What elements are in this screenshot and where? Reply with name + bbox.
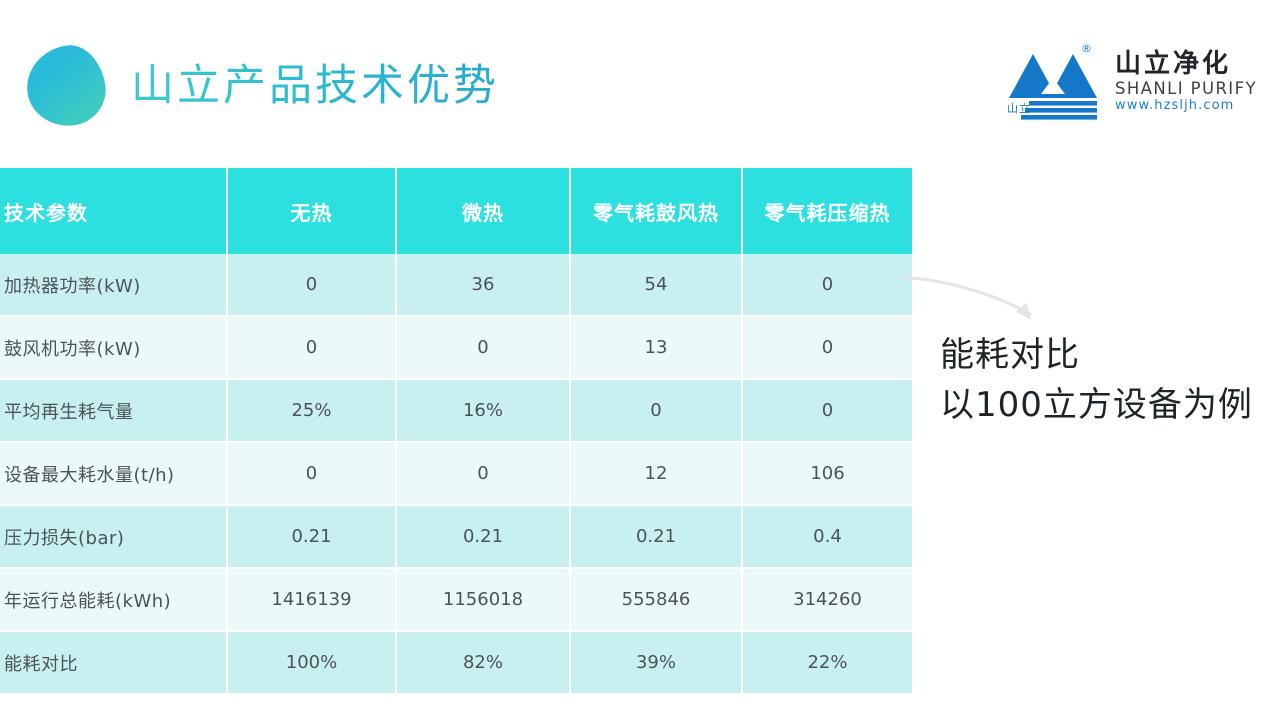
- row-label: 能耗对比: [0, 631, 227, 694]
- cell-value: 25%: [227, 379, 396, 442]
- annotation-line-1: 能耗对比: [940, 330, 1253, 380]
- row-label: 设备最大耗水量(t/h): [0, 442, 227, 505]
- table-row: 平均再生耗气量 25% 16% 0 0: [0, 379, 912, 442]
- cell-value: 12: [570, 442, 742, 505]
- cell-value: 0.21: [570, 505, 742, 568]
- cell-value: 36: [396, 254, 570, 316]
- cell-value: 0: [742, 316, 912, 379]
- callout-arrow-icon: [900, 272, 1050, 332]
- annotation-line-2: 以100立方设备为例: [940, 380, 1253, 430]
- cell-value: 100%: [227, 631, 396, 694]
- table-row: 鼓风机功率(kW) 0 0 13 0: [0, 316, 912, 379]
- cell-value: 0.4: [742, 505, 912, 568]
- row-label: 平均再生耗气量: [0, 379, 227, 442]
- spec-table-body: 加热器功率(kW) 0 36 54 0 鼓风机功率(kW) 0 0 13 0 平…: [0, 254, 912, 694]
- registered-trademark-icon: ®: [1081, 42, 1092, 55]
- spec-table-header: 技术参数 无热 微热 零气耗鼓风热 零气耗压缩热: [0, 168, 912, 254]
- column-header-4: 零气耗压缩热: [742, 168, 912, 254]
- column-header-2: 微热: [396, 168, 570, 254]
- column-header-1: 无热: [227, 168, 396, 254]
- spec-table-container: 技术参数 无热 微热 零气耗鼓风热 零气耗压缩热 加热器功率(kW) 0 36 …: [0, 168, 912, 695]
- callout-annotation: 能耗对比 以100立方设备为例: [940, 330, 1253, 430]
- logo-website-url: www.hzsljh.com: [1115, 98, 1255, 114]
- logo-submark-text: 山立: [1007, 100, 1031, 116]
- cell-value: 0: [742, 379, 912, 442]
- cell-value: 13: [570, 316, 742, 379]
- cell-value: 0: [396, 316, 570, 379]
- decorative-blob-shape: [22, 41, 110, 131]
- cell-value: 82%: [396, 631, 570, 694]
- cell-value: 39%: [570, 631, 742, 694]
- cell-value: 0.21: [396, 505, 570, 568]
- page-title: 山立产品技术优势: [131, 57, 499, 115]
- spec-table: 技术参数 无热 微热 零气耗鼓风热 零气耗压缩热 加热器功率(kW) 0 36 …: [0, 168, 912, 695]
- cell-value: 16%: [396, 379, 570, 442]
- column-header-param: 技术参数: [0, 168, 227, 254]
- cell-value: 0: [396, 442, 570, 505]
- logo-company-name-cn: 山立净化: [1115, 50, 1255, 79]
- table-header-row: 技术参数 无热 微热 零气耗鼓风热 零气耗压缩热: [0, 168, 912, 254]
- cell-value: 0: [742, 254, 912, 316]
- table-row: 压力损失(bar) 0.21 0.21 0.21 0.4: [0, 505, 912, 568]
- company-logo: ® 山立 山立净化 SHANLI PURIFY www.hzsljh.com: [1005, 40, 1255, 126]
- cell-value: 22%: [742, 631, 912, 694]
- cell-value: 555846: [570, 568, 742, 631]
- table-row: 加热器功率(kW) 0 36 54 0: [0, 254, 912, 316]
- cell-value: 0: [570, 379, 742, 442]
- cell-value: 1416139: [227, 568, 396, 631]
- cell-value: 1156018: [396, 568, 570, 631]
- table-row: 设备最大耗水量(t/h) 0 0 12 106: [0, 442, 912, 505]
- cell-value: 0: [227, 442, 396, 505]
- cell-value: 0.21: [227, 505, 396, 568]
- cell-value: 314260: [742, 568, 912, 631]
- cell-value: 0: [227, 254, 396, 316]
- row-label: 加热器功率(kW): [0, 254, 227, 316]
- cell-value: 0: [227, 316, 396, 379]
- row-label: 鼓风机功率(kW): [0, 316, 227, 379]
- row-label: 压力损失(bar): [0, 505, 227, 568]
- cell-value: 106: [742, 442, 912, 505]
- logo-wordmark: 山立净化 SHANLI PURIFY www.hzsljh.com: [1115, 50, 1255, 114]
- table-row: 年运行总能耗(kWh) 1416139 1156018 555846 31426…: [0, 568, 912, 631]
- logo-company-name-en: SHANLI PURIFY: [1115, 79, 1255, 98]
- cell-value: 54: [570, 254, 742, 316]
- column-header-3: 零气耗鼓风热: [570, 168, 742, 254]
- table-row: 能耗对比 100% 82% 39% 22%: [0, 631, 912, 694]
- slide-canvas: 山立产品技术优势 ® 山立 山立净化 SHANLI PURIFY www.hzs…: [0, 0, 1280, 720]
- row-label: 年运行总能耗(kWh): [0, 568, 227, 631]
